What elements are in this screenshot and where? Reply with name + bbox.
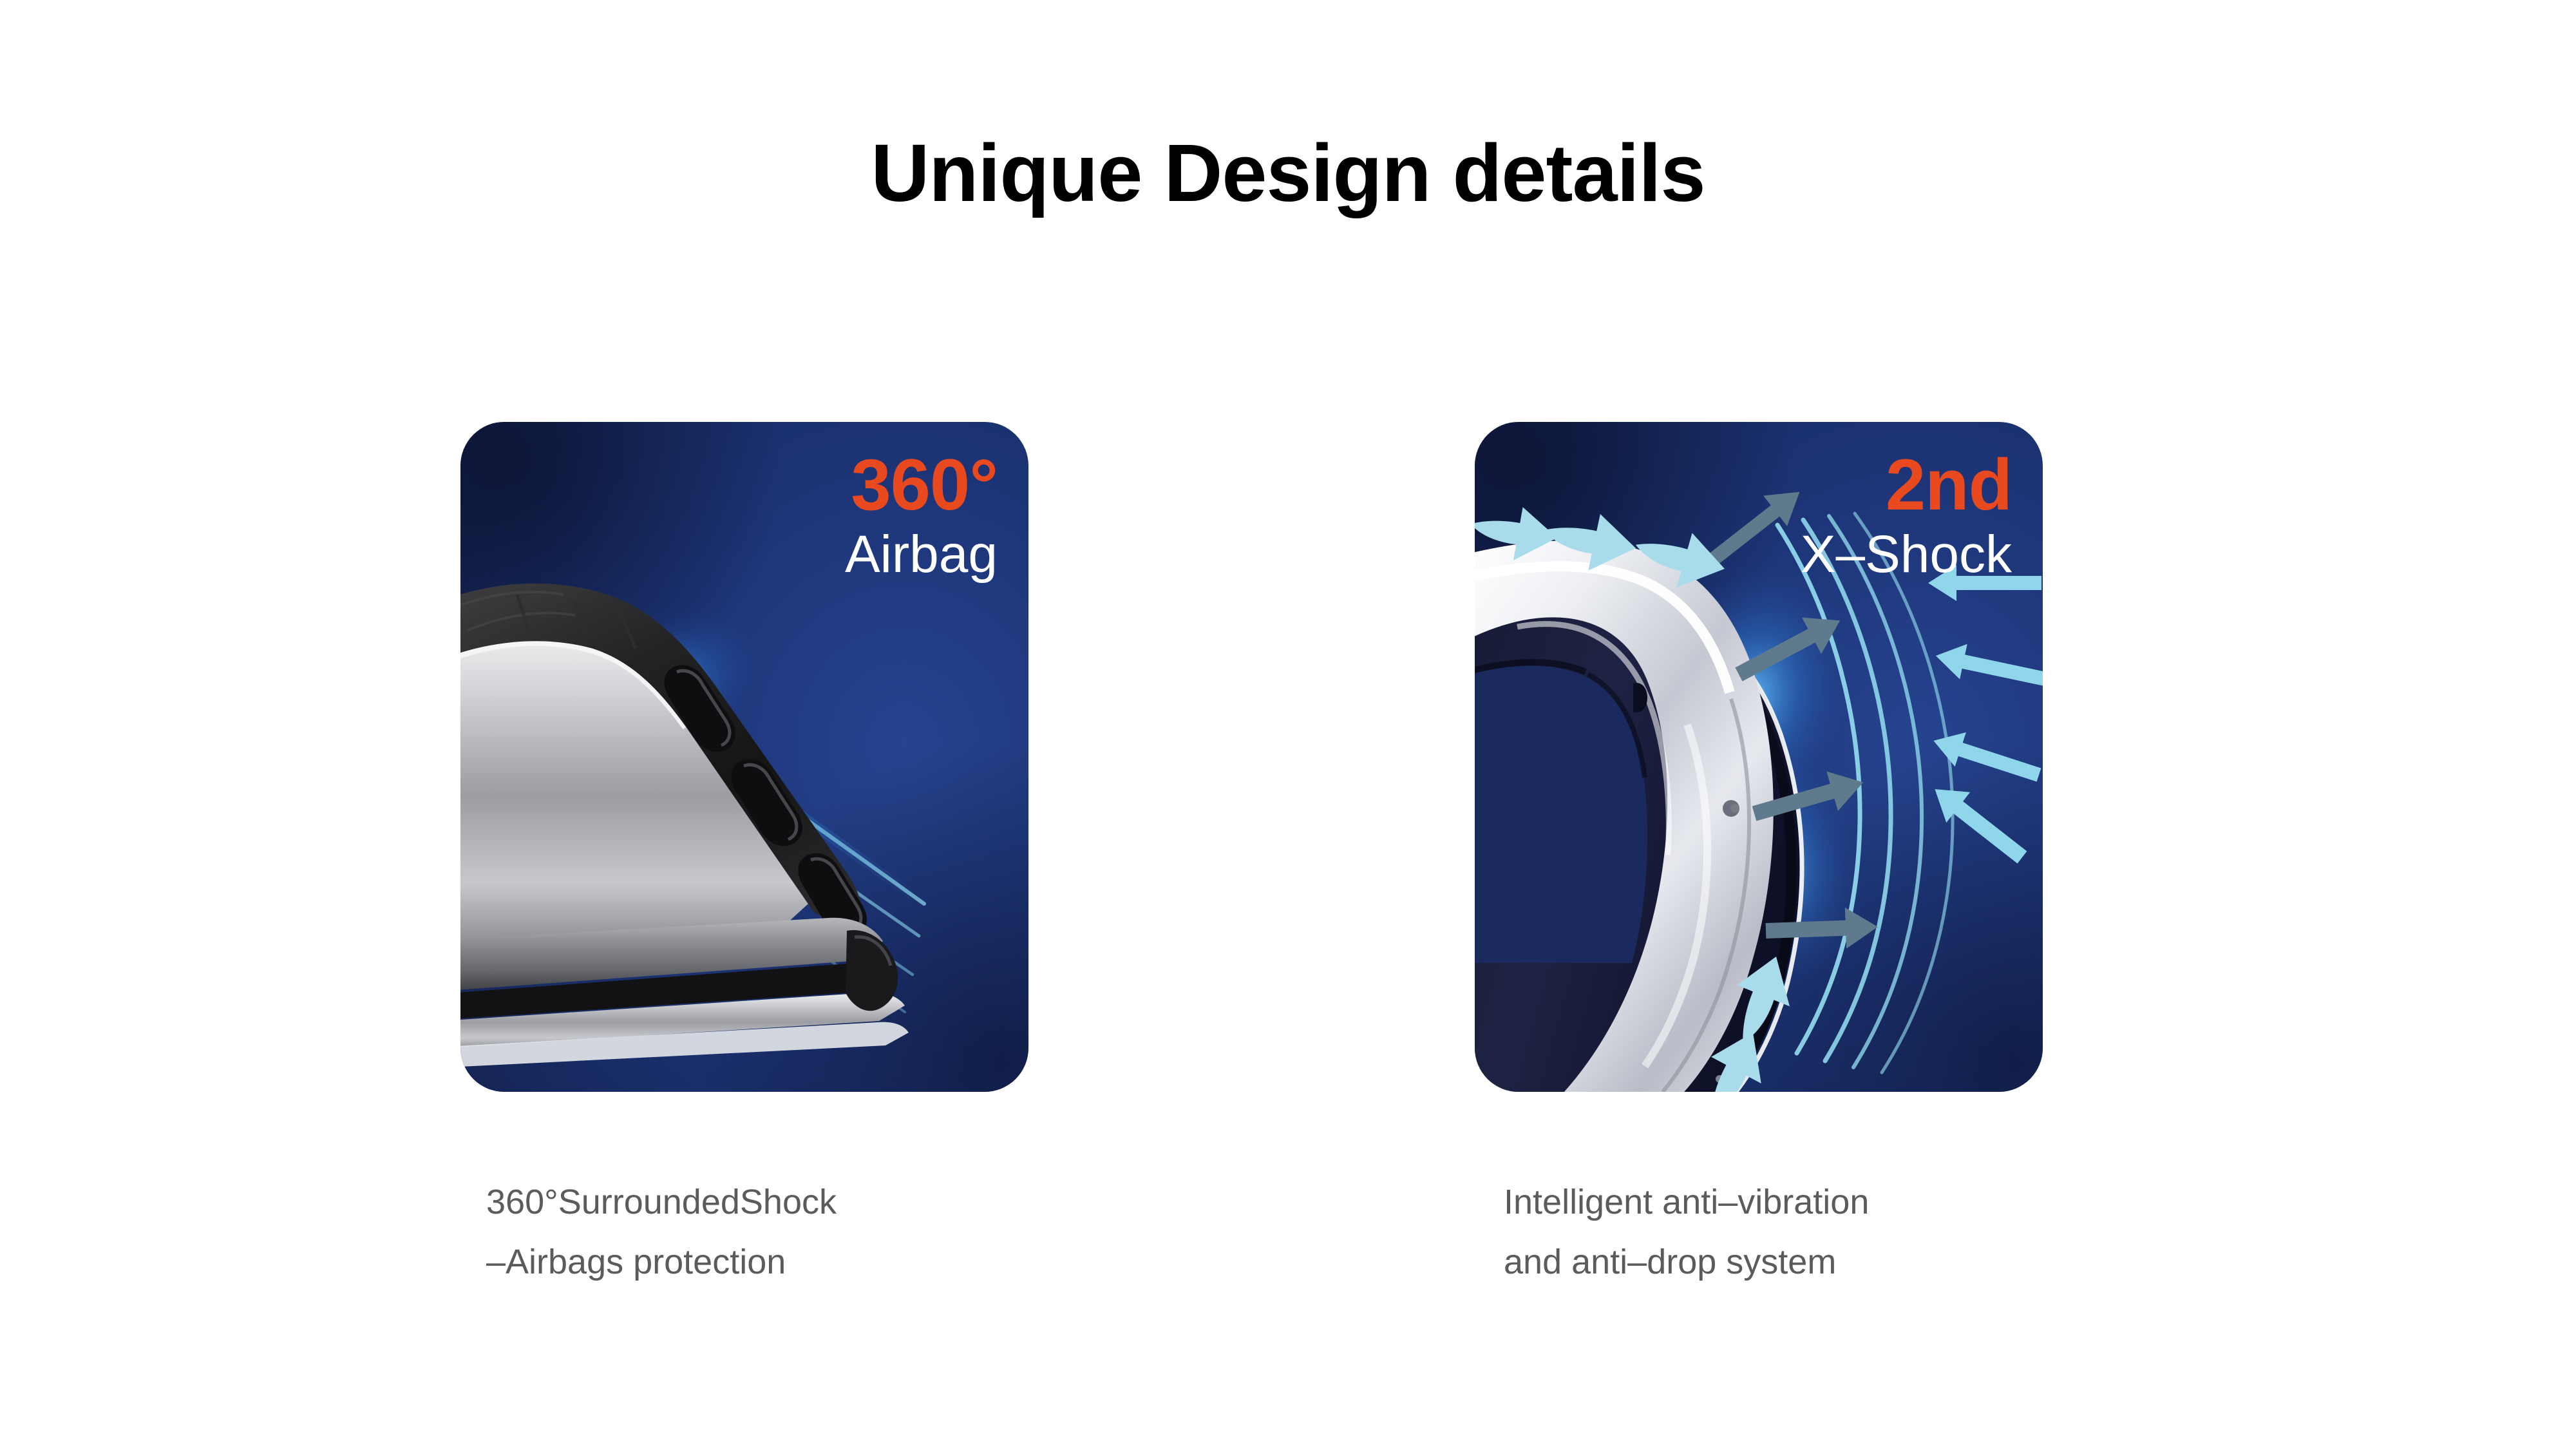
- feature-image-x-shock: 2nd X–Shock: [1475, 422, 2043, 1092]
- caption-line-2: –Airbags protection: [486, 1232, 837, 1292]
- badge-main-label: 360°: [845, 449, 998, 521]
- caption-line-2: and anti–drop system: [1504, 1232, 1869, 1292]
- feature-card-airbag: 360° Airbag 360°SurroundedShock –Airbags…: [460, 422, 1028, 1092]
- caption-x-shock: Intelligent anti–vibration and anti–drop…: [1504, 1172, 1869, 1292]
- feature-card-x-shock: 2nd X–Shock Intelligent anti–vibration a…: [1475, 422, 2043, 1092]
- feature-row: 360° Airbag 360°SurroundedShock –Airbags…: [0, 0, 2576, 1450]
- badge-x-shock: 2nd X–Shock: [1801, 449, 2012, 589]
- badge-airbag: 360° Airbag: [845, 449, 998, 589]
- badge-main-label: 2nd: [1801, 449, 2012, 521]
- feature-image-airbag: 360° Airbag: [460, 422, 1028, 1092]
- badge-sub-label: Airbag: [845, 521, 998, 589]
- caption-line-1: 360°SurroundedShock: [486, 1172, 837, 1232]
- caption-airbag: 360°SurroundedShock –Airbags protection: [486, 1172, 837, 1292]
- badge-sub-label: X–Shock: [1801, 521, 2012, 589]
- caption-line-1: Intelligent anti–vibration: [1504, 1172, 1869, 1232]
